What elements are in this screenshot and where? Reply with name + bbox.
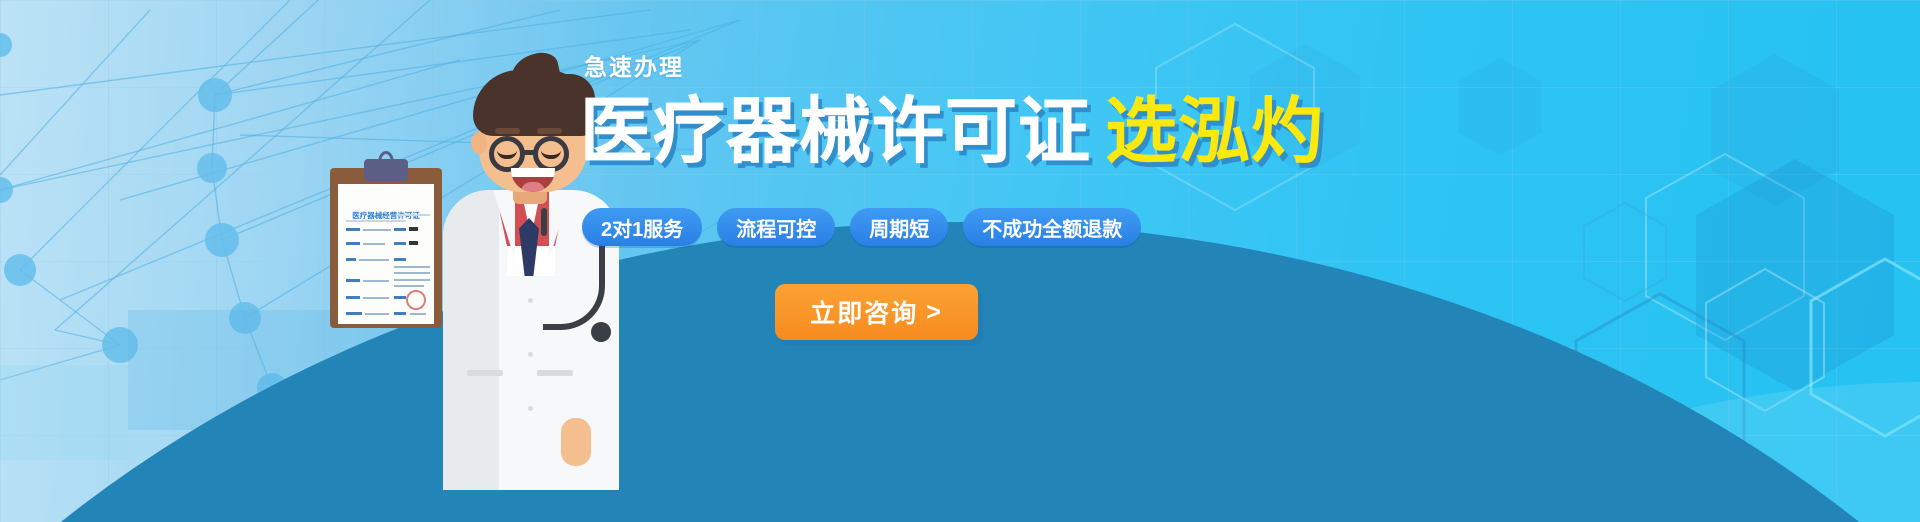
doctor-teeth: [511, 168, 555, 177]
coat-button: [528, 352, 533, 357]
doctor-pocket-left: [467, 370, 503, 376]
doctor-ear: [471, 132, 487, 154]
coat-button: [528, 298, 533, 303]
hexagon-icon: [1700, 265, 1830, 415]
glasses-bridge: [524, 150, 535, 155]
feature-tag[interactable]: 不成功全额退款: [963, 208, 1141, 246]
doctor-coat-shade: [443, 190, 499, 490]
hexagon-icon: [1705, 50, 1845, 210]
doctor-eyebrow-right: [537, 128, 562, 134]
page-title: 医疗器械许可证选泓灼: [580, 93, 1324, 171]
hexagon-icon: [1805, 255, 1920, 440]
doctor-tongue: [521, 182, 545, 192]
hexagon-icon: [1400, 390, 1510, 518]
chevron-right-icon: >: [926, 298, 943, 327]
accent-rect: [0, 365, 128, 460]
headline-yellow-text: 选泓灼: [1105, 92, 1324, 172]
coat-button: [528, 406, 533, 411]
cta-label: 立即咨询: [810, 294, 918, 330]
headline-white-text: 医疗器械许可证: [580, 92, 1091, 172]
glasses-icon: [533, 136, 569, 172]
feature-tag-list: 2对1服务 流程可控 周期短 不成功全额退款: [582, 208, 1141, 246]
clipboard-clip-ring: [378, 151, 394, 164]
feature-tag[interactable]: 流程可控: [717, 208, 835, 246]
eyebrow-text: 急速办理: [584, 48, 684, 82]
hexagon-icon: [1640, 150, 1810, 345]
hexagon-icon: [1690, 155, 1900, 395]
hexagon-icon: [1570, 290, 1750, 496]
glasses-icon: [489, 136, 525, 172]
hexagon-icon: [1580, 200, 1670, 304]
doctor-pocket-right: [537, 370, 573, 376]
accent-rect: [128, 310, 428, 430]
promo-banner: 医疗器械经营许可证: [0, 0, 1920, 522]
consult-now-button[interactable]: 立即咨询 >: [775, 284, 978, 340]
doctor-eyebrow-left: [495, 128, 520, 134]
banner-content: 急速办理 医疗器械许可证选泓灼 2对1服务 流程可控 周期短 不成功全额退款 立…: [580, 0, 1320, 522]
doctor-collar-left: [493, 190, 515, 260]
feature-tag[interactable]: 2对1服务: [582, 208, 702, 246]
hexagon-icon: [1455, 55, 1545, 159]
feature-tag[interactable]: 周期短: [850, 208, 948, 246]
